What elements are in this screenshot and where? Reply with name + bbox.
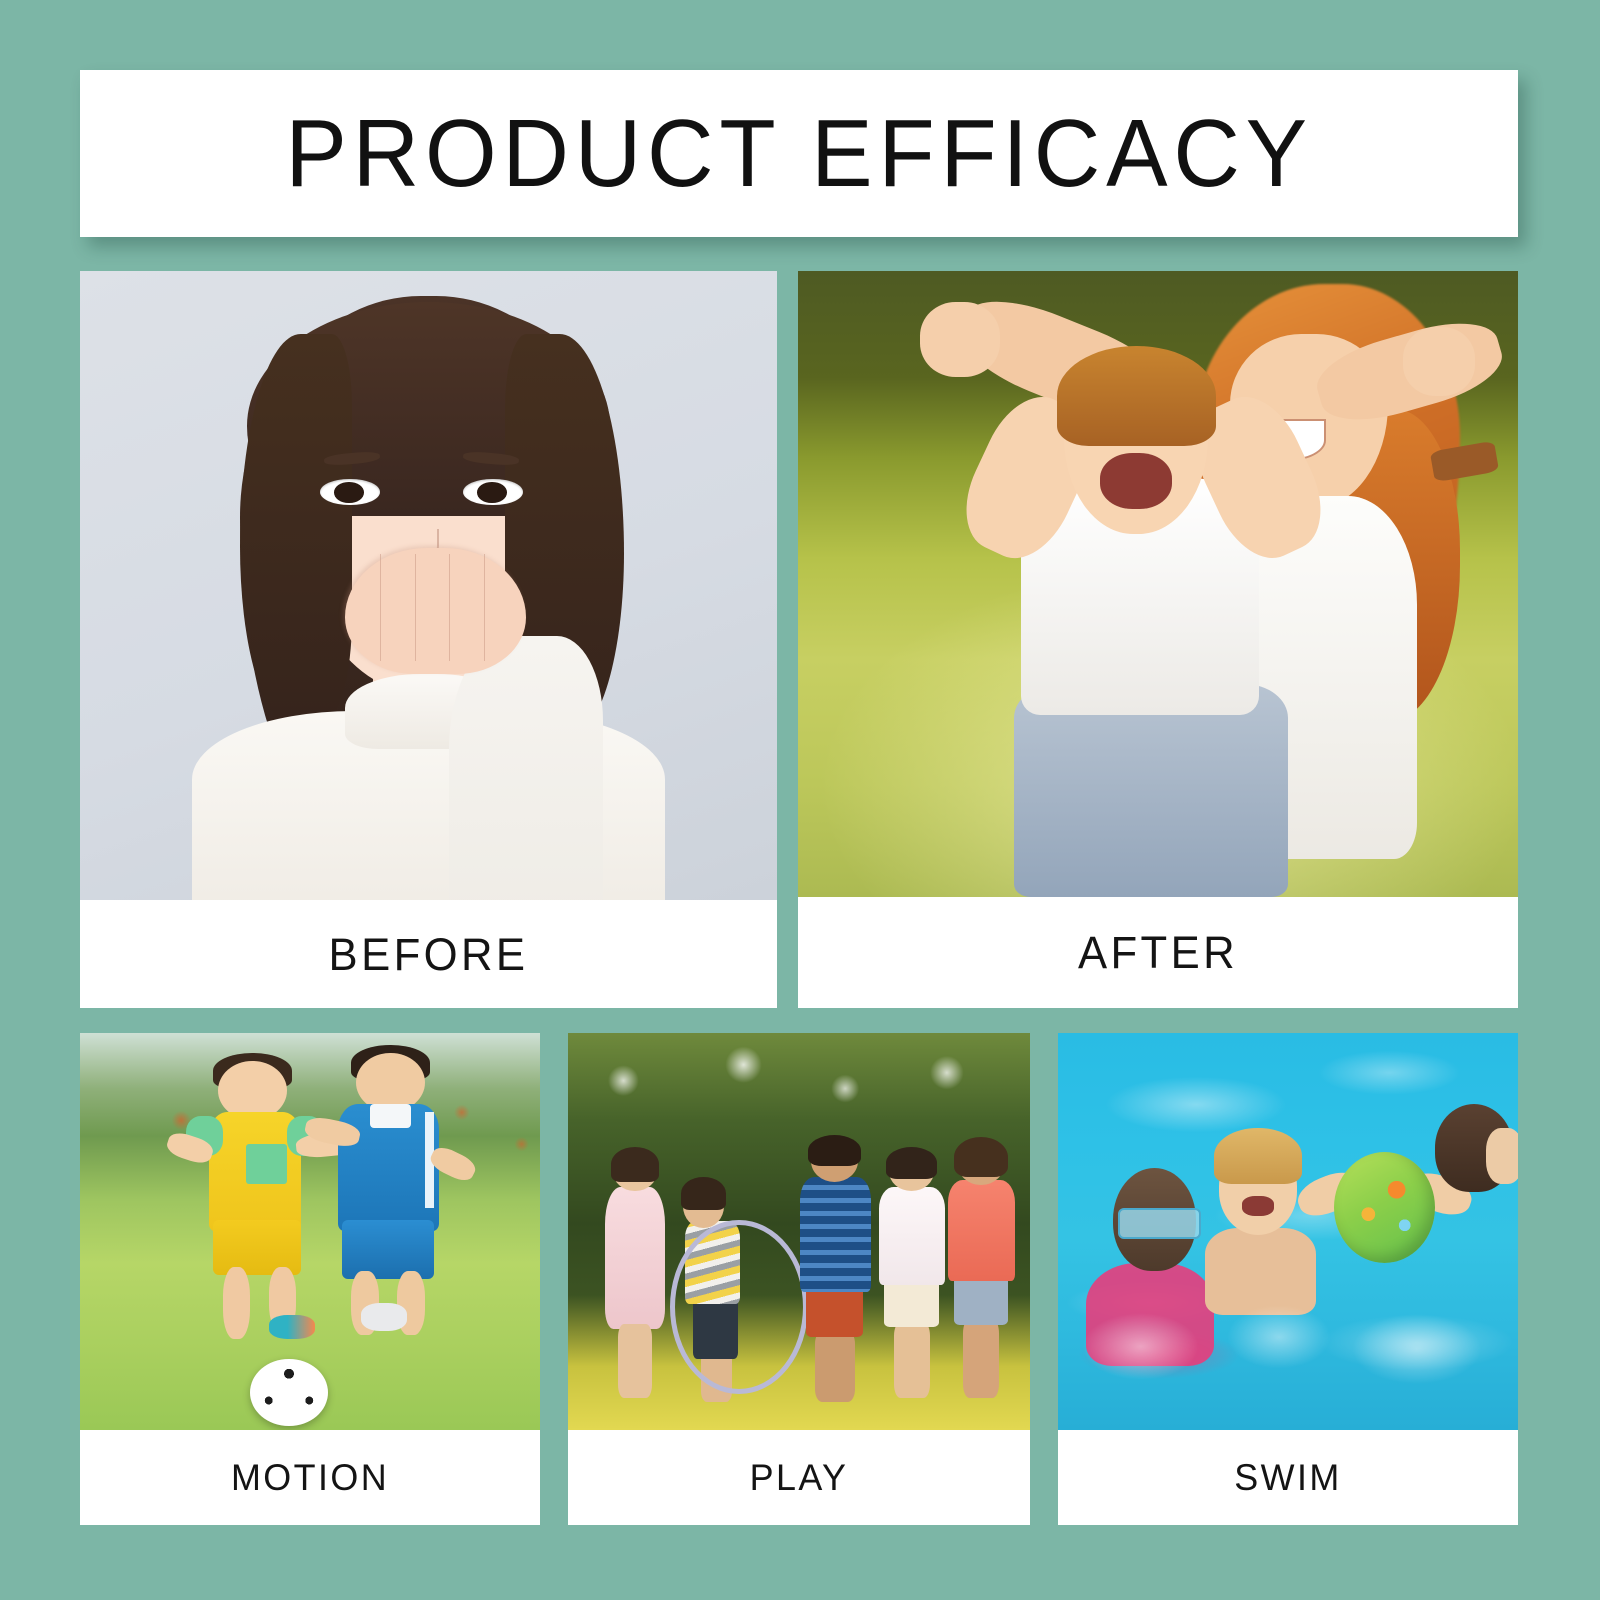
before-label: BEFORE [90,900,766,1008]
child-3-shorts [806,1284,862,1336]
swim-card: SWIM [1058,1033,1518,1525]
child-mouth-shape [1100,453,1172,509]
child-1-hair [611,1147,659,1181]
play-label: PLAY [575,1430,1023,1525]
child-3-legs [815,1331,855,1402]
after-card: AFTER [798,271,1518,1008]
mother-and-child-playing-photo [798,271,1518,897]
before-card: BEFORE [80,271,777,1008]
finger-4 [484,554,485,661]
children-swimming-pool-photo [1058,1033,1518,1430]
child-1-dress [605,1187,665,1330]
child-5-hair [954,1137,1008,1178]
hula-hoop-shape [670,1220,809,1395]
child-1-legs [618,1324,652,1398]
child-5-shorts [954,1274,1008,1325]
boy2-shoe-shape [361,1303,407,1331]
children-hula-hoop-photo [568,1033,1030,1430]
arm-shape [449,636,602,900]
child-3-figure [799,1140,873,1402]
child-3-hair [808,1135,861,1166]
mother-hand-left [920,302,999,377]
beach-ball-shape [1334,1152,1435,1263]
swimmer-2-mouth [1242,1196,1274,1216]
child-5-figure [947,1144,1016,1398]
finger-3 [449,554,450,661]
pupil-left [334,482,363,503]
after-label: AFTER [809,897,1507,1008]
boy1-head-shape [218,1061,287,1121]
child-5-shirt [948,1180,1015,1282]
child-4-legs [894,1322,930,1398]
swimmer-3-face [1486,1128,1518,1184]
swim-goggles-shape [1118,1208,1201,1240]
pupil-right [477,482,506,503]
boy2-head-shape [356,1053,425,1113]
boy1-leg-left [223,1267,251,1338]
child-jeans-shape [1014,684,1288,897]
child-2-hair [681,1177,726,1210]
swimmer-2-hair [1214,1128,1301,1184]
child-4-hair [886,1147,937,1179]
mother-hand-right [1403,327,1475,396]
child-3-shirt [800,1177,871,1292]
motion-label: MOTION [87,1430,533,1525]
child-4-figure [878,1152,947,1398]
child-1-figure [605,1152,665,1398]
soccer-ball-shape [250,1359,328,1426]
boy1-shoe-shape [269,1315,315,1339]
boys-playing-soccer-photo [80,1033,540,1430]
boy2-collar-shape [370,1104,411,1128]
finger-1 [380,554,381,661]
motion-card: MOTION [80,1033,540,1525]
child-4-shirt [879,1187,946,1285]
child-5-legs [963,1319,999,1398]
page-title: PRODUCT EFFICACY [285,106,1312,202]
boy2-shorts-shape [342,1220,434,1280]
girl-covering-mouth-photo [80,271,777,900]
child-hair-shape [1057,346,1215,446]
finger-2 [415,554,416,661]
child-4-shorts [884,1278,938,1327]
page-title-bar: PRODUCT EFFICACY [80,70,1518,237]
play-card: PLAY [568,1033,1030,1525]
hand-shape [345,548,526,674]
water-splash-shape [1058,1287,1518,1406]
swim-label: SWIM [1065,1430,1511,1525]
boy1-pocket-shape [246,1144,287,1184]
